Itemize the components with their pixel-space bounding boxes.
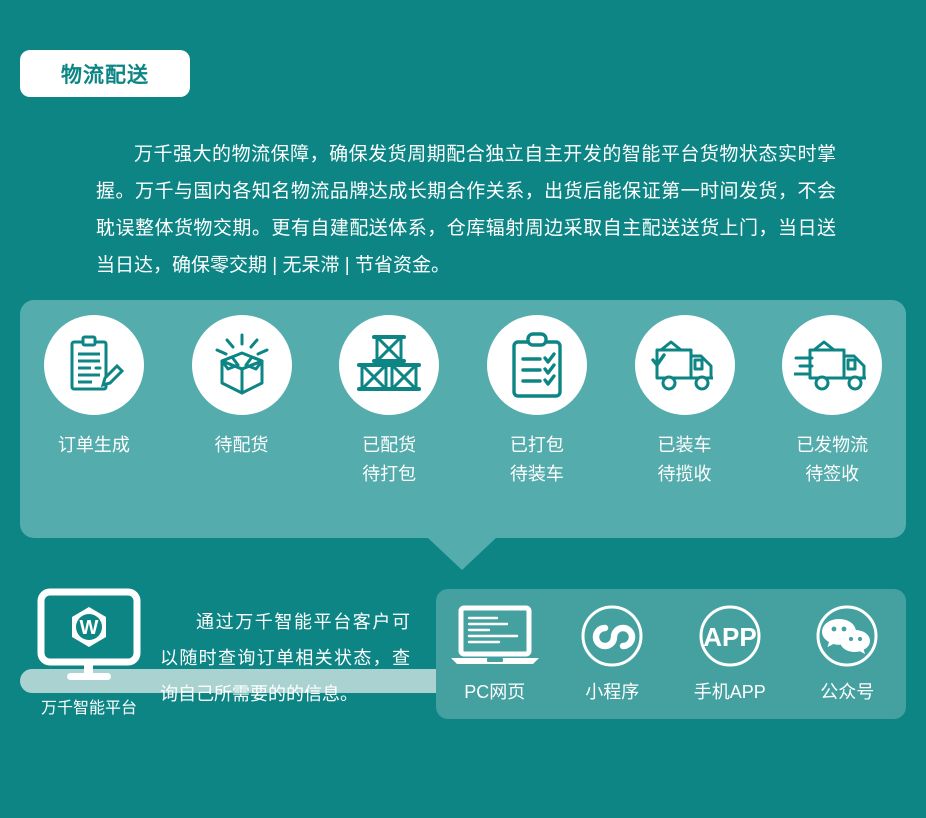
step-icon-bubble: [192, 315, 292, 415]
platform-label: 万千智能平台: [41, 694, 137, 718]
svg-text:APP: APP: [703, 622, 756, 652]
mini-program-icon: [579, 604, 645, 668]
app-circle-icon: APP: [697, 604, 763, 668]
channel-item-miniprogram[interactable]: 小程序: [559, 604, 665, 704]
step-item[interactable]: 已打包 待装车: [463, 300, 611, 538]
channel-item-pc[interactable]: PC网页: [442, 604, 548, 704]
step-label: 已装车 待揽收: [658, 431, 712, 489]
bottom-paragraph: 通过万千智能平台客户可以随时查询订单相关状态，查询自己所需要的的信息。: [160, 604, 410, 712]
platform-block: W 万千智能平台: [37, 588, 141, 718]
step-label: 订单生成: [58, 431, 130, 460]
step-label: 已发物流 待签收: [796, 431, 868, 489]
logistics-infographic: 物流配送 万千强大的物流保障，确保发货周期配合独立自主开发的智能平台货物状态实时…: [0, 0, 926, 818]
truck-check-icon: [649, 336, 721, 394]
step-icon-bubble: [44, 315, 144, 415]
panel-arrow: [428, 538, 496, 570]
step-icon-bubble: [487, 315, 587, 415]
wechat-icon: [814, 604, 880, 668]
open-box-icon: [208, 331, 276, 399]
channel-label: 小程序: [585, 678, 639, 704]
section-title-badge: 物流配送: [20, 50, 190, 97]
laptop-icon: [447, 604, 543, 668]
stacked-crates-icon: [354, 332, 424, 398]
channel-label: PC网页: [464, 678, 525, 704]
truck-motion-icon: [794, 336, 870, 394]
step-item[interactable]: 已发物流 待签收: [758, 300, 906, 538]
page-title: 物流配送: [61, 59, 149, 89]
intro-paragraph: 万千强大的物流保障，确保发货周期配合独立自主开发的智能平台货物状态实时掌握。万千…: [96, 136, 836, 284]
step-item[interactable]: 已装车 待揽收: [611, 300, 759, 538]
step-icon-bubble: [635, 315, 735, 415]
channel-label: 手机APP: [694, 678, 766, 704]
monitor-w-logo-icon: W: [37, 588, 141, 684]
steps-list: 订单生成: [20, 300, 906, 538]
channels-panel: PC网页 小程序 APP 手机APP: [436, 589, 906, 719]
channel-label: 公众号: [820, 678, 874, 704]
step-item[interactable]: 待配货: [168, 300, 316, 538]
step-icon-bubble: [339, 315, 439, 415]
svg-text:W: W: [80, 617, 99, 639]
channel-item-official-account[interactable]: 公众号: [794, 604, 900, 704]
step-label: 待配货: [215, 431, 269, 460]
channel-item-app[interactable]: APP 手机APP: [677, 604, 783, 704]
step-label: 已配货 待打包: [362, 431, 416, 489]
step-label: 已打包 待装车: [510, 431, 564, 489]
step-item[interactable]: 已配货 待打包: [315, 300, 463, 538]
clipboard-pencil-icon: [61, 332, 127, 398]
step-icon-bubble: [782, 315, 882, 415]
checklist-clipboard-icon: [506, 331, 568, 399]
step-item[interactable]: 订单生成: [20, 300, 168, 538]
